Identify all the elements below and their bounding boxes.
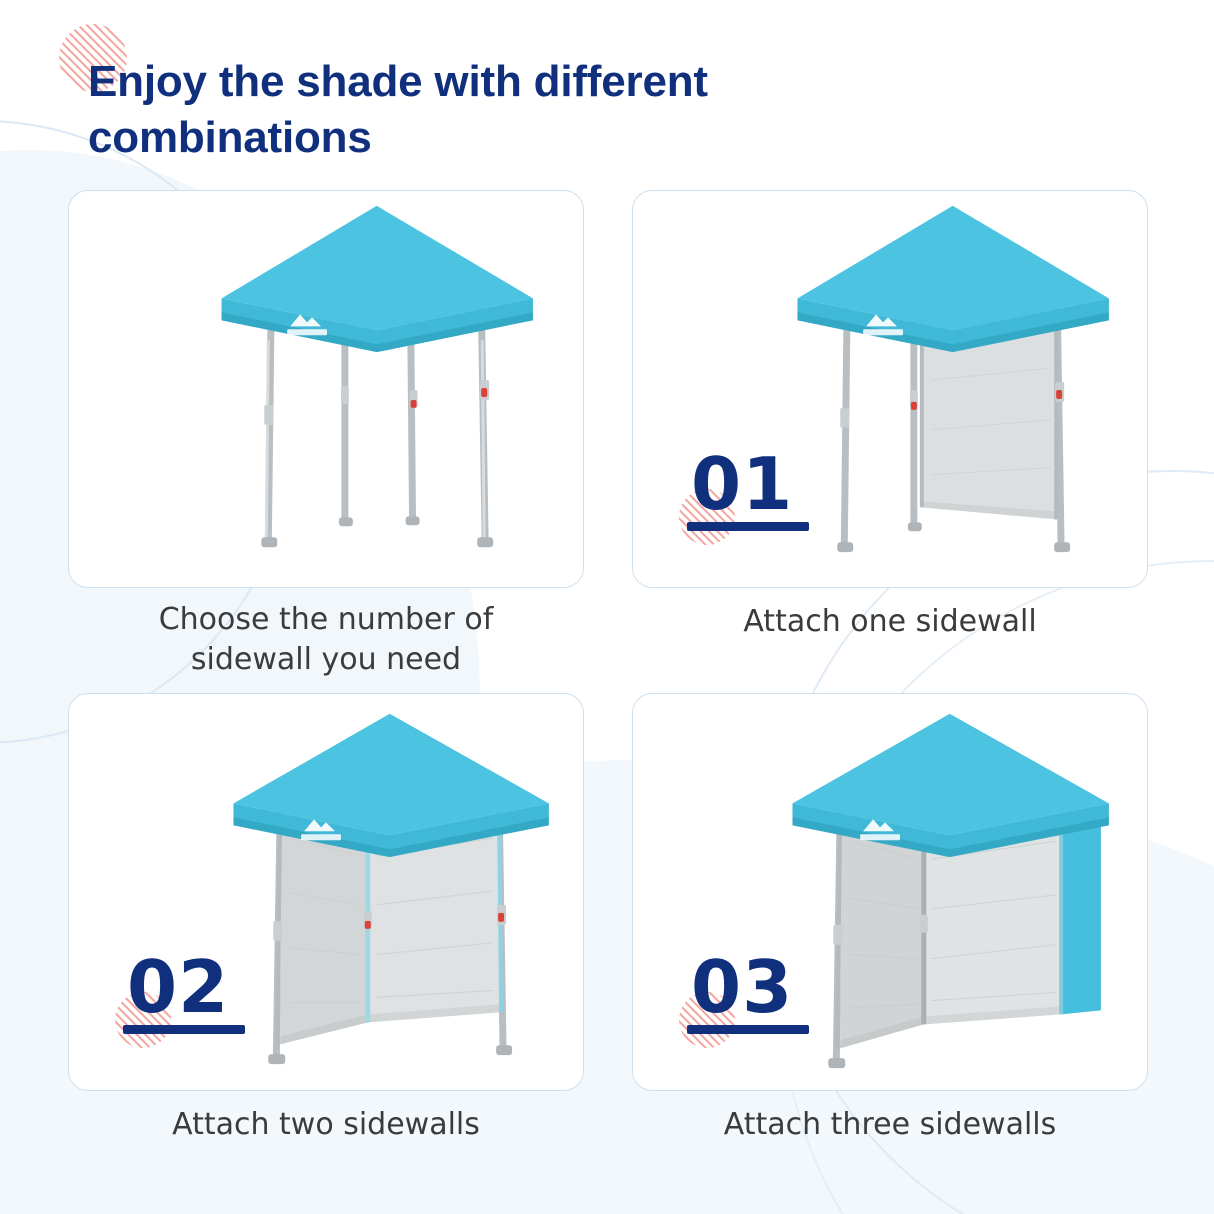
brand-logo bbox=[283, 312, 330, 335]
card-caption-one-sidewall: Attach one sidewall bbox=[632, 588, 1148, 648]
card-caption-no-sidewall: Choose the number of sidewall you need bbox=[68, 588, 584, 685]
caption-line-1: Choose the number of bbox=[68, 600, 584, 640]
card-one-sidewall: 01 bbox=[632, 190, 1148, 588]
caption-line-1: Attach two sidewalls bbox=[68, 1105, 584, 1145]
card-three-sidewalls: 03 bbox=[632, 693, 1148, 1091]
page-title-line-1: Enjoy the shade with different bbox=[88, 54, 1088, 110]
card-cell-two-sidewalls: 02 Attach two sidewalls bbox=[68, 693, 584, 1151]
page-title-line-2: combinations bbox=[88, 110, 1088, 166]
page-title: Enjoy the shade with different combinati… bbox=[88, 54, 1088, 167]
tent-illustration-no-sidewall bbox=[69, 191, 583, 587]
card-no-sidewall bbox=[68, 190, 584, 588]
step-number: 01 bbox=[687, 450, 809, 518]
card-cell-no-sidewall: Choose the number of sidewall you need bbox=[68, 190, 584, 685]
card-cell-one-sidewall: 01 Attach one sidewall bbox=[632, 190, 1148, 685]
step-underline bbox=[687, 522, 809, 531]
step-underline bbox=[123, 1025, 245, 1034]
step-badge-01: 01 bbox=[687, 450, 809, 531]
step-number: 02 bbox=[123, 953, 245, 1021]
caption-line-1: Attach one sidewall bbox=[632, 602, 1148, 642]
step-badge-03: 03 bbox=[687, 953, 809, 1034]
caption-line-2: sidewall you need bbox=[68, 640, 584, 680]
step-badge-02: 02 bbox=[123, 953, 245, 1034]
feature-card-grid: Choose the number of sidewall you need bbox=[68, 190, 1148, 1151]
card-two-sidewalls: 02 bbox=[68, 693, 584, 1091]
step-number: 03 bbox=[687, 953, 809, 1021]
card-caption-three-sidewalls: Attach three sidewalls bbox=[632, 1091, 1148, 1151]
card-caption-two-sidewalls: Attach two sidewalls bbox=[68, 1091, 584, 1151]
card-cell-three-sidewalls: 03 Attach three sidewalls bbox=[632, 693, 1148, 1151]
step-underline bbox=[687, 1025, 809, 1034]
caption-line-1: Attach three sidewalls bbox=[632, 1105, 1148, 1145]
